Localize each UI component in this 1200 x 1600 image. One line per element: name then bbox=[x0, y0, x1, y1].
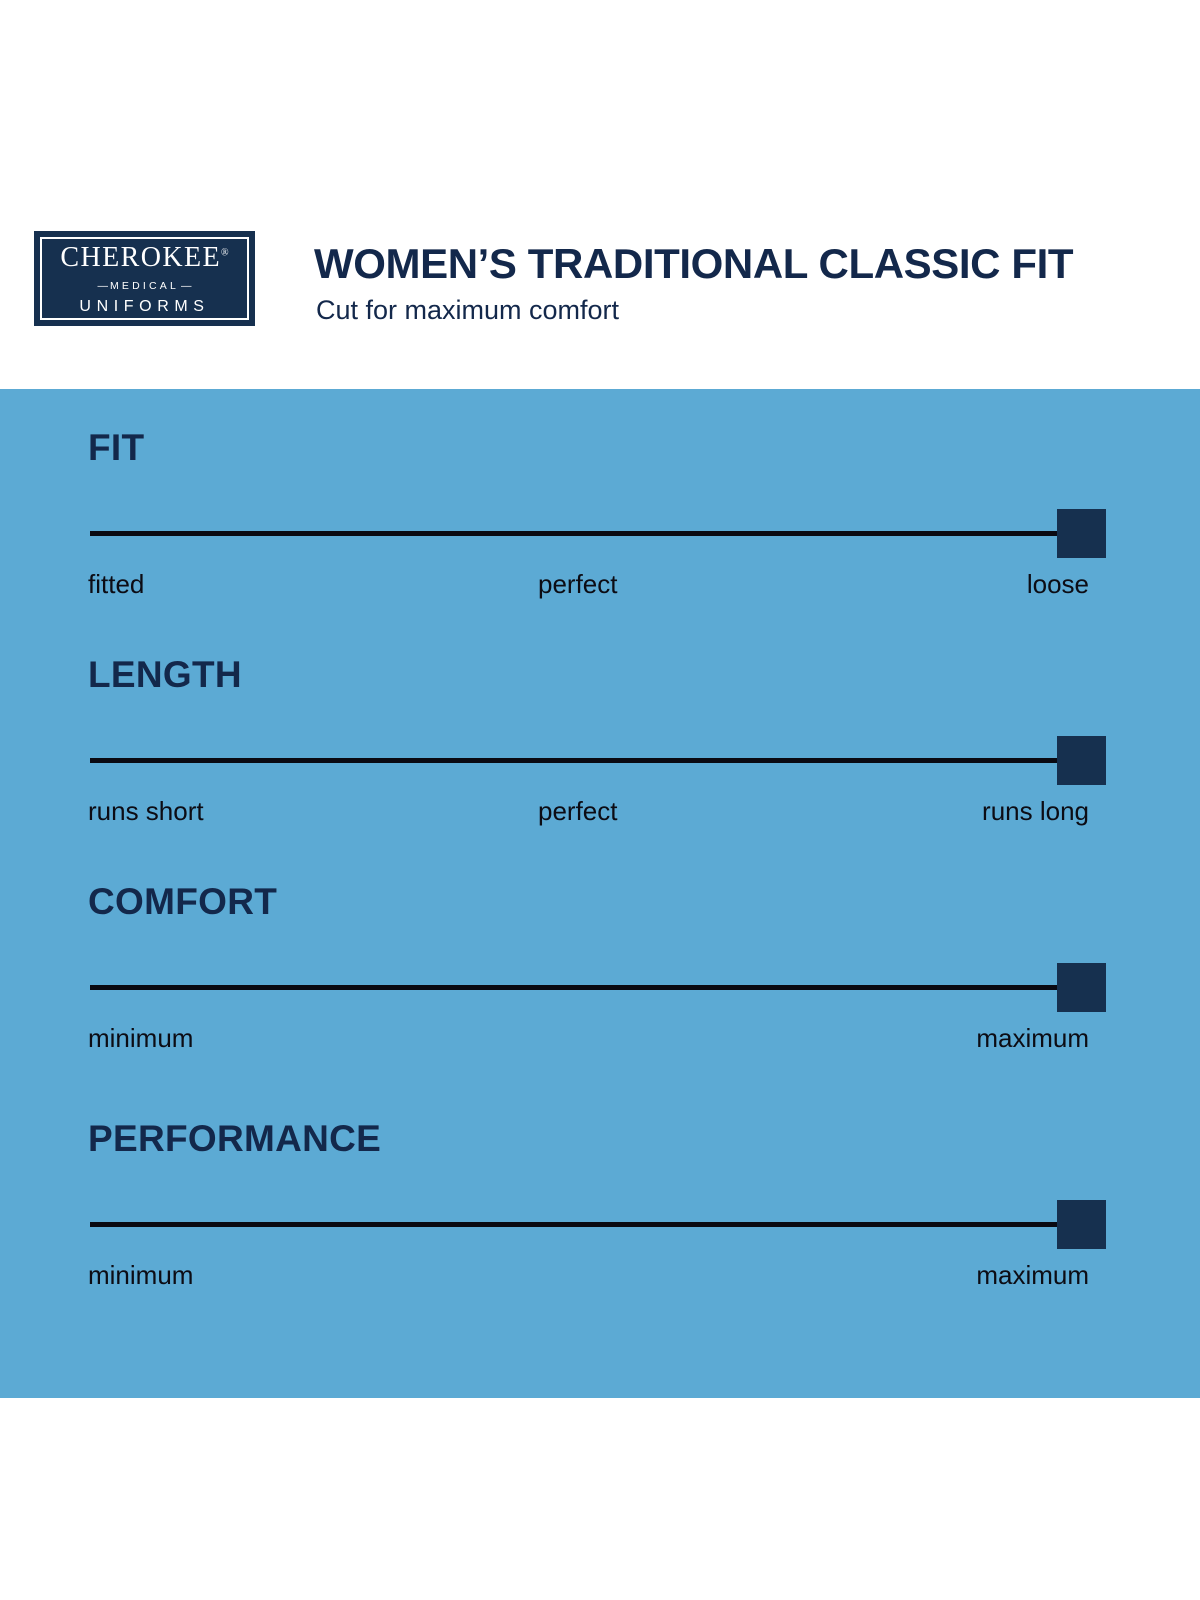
slider-group-length: LENGTH runs short perfect runs long bbox=[88, 656, 1108, 830]
logo-bottom-line: UNIFORMS bbox=[60, 299, 228, 315]
slider-track-comfort[interactable] bbox=[88, 962, 1108, 1012]
slider-track-line bbox=[90, 1222, 1062, 1227]
slider-group-comfort: COMFORT minimum maximum bbox=[88, 883, 1108, 1057]
slider-handle-performance[interactable] bbox=[1057, 1200, 1106, 1249]
slider-label-left-performance: minimum bbox=[88, 1260, 193, 1291]
slider-labels-performance: minimum maximum bbox=[88, 1260, 1108, 1294]
slider-label-mid-length: perfect bbox=[538, 796, 618, 827]
slider-label-left-length: runs short bbox=[88, 796, 204, 827]
logo-middle-word: MEDICAL bbox=[110, 280, 179, 292]
slider-group-performance: PERFORMANCE minimum maximum bbox=[88, 1120, 1108, 1294]
slider-heading-length: LENGTH bbox=[88, 656, 1108, 693]
slider-label-right-fit: loose bbox=[1027, 569, 1089, 600]
slider-track-performance[interactable] bbox=[88, 1199, 1108, 1249]
slider-heading-comfort: COMFORT bbox=[88, 883, 1108, 920]
slider-label-mid-fit: perfect bbox=[538, 569, 618, 600]
slider-labels-length: runs short perfect runs long bbox=[88, 796, 1108, 830]
slider-labels-fit: fitted perfect loose bbox=[88, 569, 1108, 603]
slider-label-left-comfort: minimum bbox=[88, 1023, 193, 1054]
slider-group-fit: FIT fitted perfect loose bbox=[88, 429, 1108, 603]
attribute-panel: FIT fitted perfect loose LENGTH runs sho… bbox=[0, 389, 1200, 1398]
slider-heading-fit: FIT bbox=[88, 429, 1108, 466]
logo-brand-name: CHEROKEE® bbox=[60, 244, 228, 272]
cherokee-logo: CHEROKEE® —MEDICAL— UNIFORMS bbox=[34, 231, 255, 326]
slider-handle-fit[interactable] bbox=[1057, 509, 1106, 558]
slider-label-right-comfort: maximum bbox=[976, 1023, 1089, 1054]
slider-label-right-performance: maximum bbox=[976, 1260, 1089, 1291]
slider-track-line bbox=[90, 985, 1062, 990]
logo-brand-word: CHEROKEE bbox=[60, 242, 221, 273]
slider-heading-performance: PERFORMANCE bbox=[88, 1120, 1108, 1157]
slider-track-line bbox=[90, 758, 1062, 763]
slider-handle-comfort[interactable] bbox=[1057, 963, 1106, 1012]
logo-dash-right-icon: — bbox=[179, 281, 194, 292]
slider-label-right-length: runs long bbox=[982, 796, 1089, 827]
logo-middle-line: —MEDICAL— bbox=[60, 281, 228, 292]
logo-text-stack: CHEROKEE® —MEDICAL— UNIFORMS bbox=[60, 242, 228, 316]
slider-track-line bbox=[90, 531, 1062, 536]
slider-handle-length[interactable] bbox=[1057, 736, 1106, 785]
page-title: WOMEN’S TRADITIONAL CLASSIC FIT bbox=[314, 240, 1073, 288]
registered-trademark-icon: ® bbox=[221, 247, 229, 258]
logo-dash-left-icon: — bbox=[95, 281, 110, 292]
slider-track-fit[interactable] bbox=[88, 508, 1108, 558]
page-subtitle: Cut for maximum comfort bbox=[316, 295, 619, 326]
slider-label-left-fit: fitted bbox=[88, 569, 144, 600]
fit-guide-page: CHEROKEE® —MEDICAL— UNIFORMS WOMEN’S TRA… bbox=[0, 0, 1200, 1600]
page-header: CHEROKEE® —MEDICAL— UNIFORMS WOMEN’S TRA… bbox=[0, 0, 1200, 389]
slider-track-length[interactable] bbox=[88, 735, 1108, 785]
slider-labels-comfort: minimum maximum bbox=[88, 1023, 1108, 1057]
